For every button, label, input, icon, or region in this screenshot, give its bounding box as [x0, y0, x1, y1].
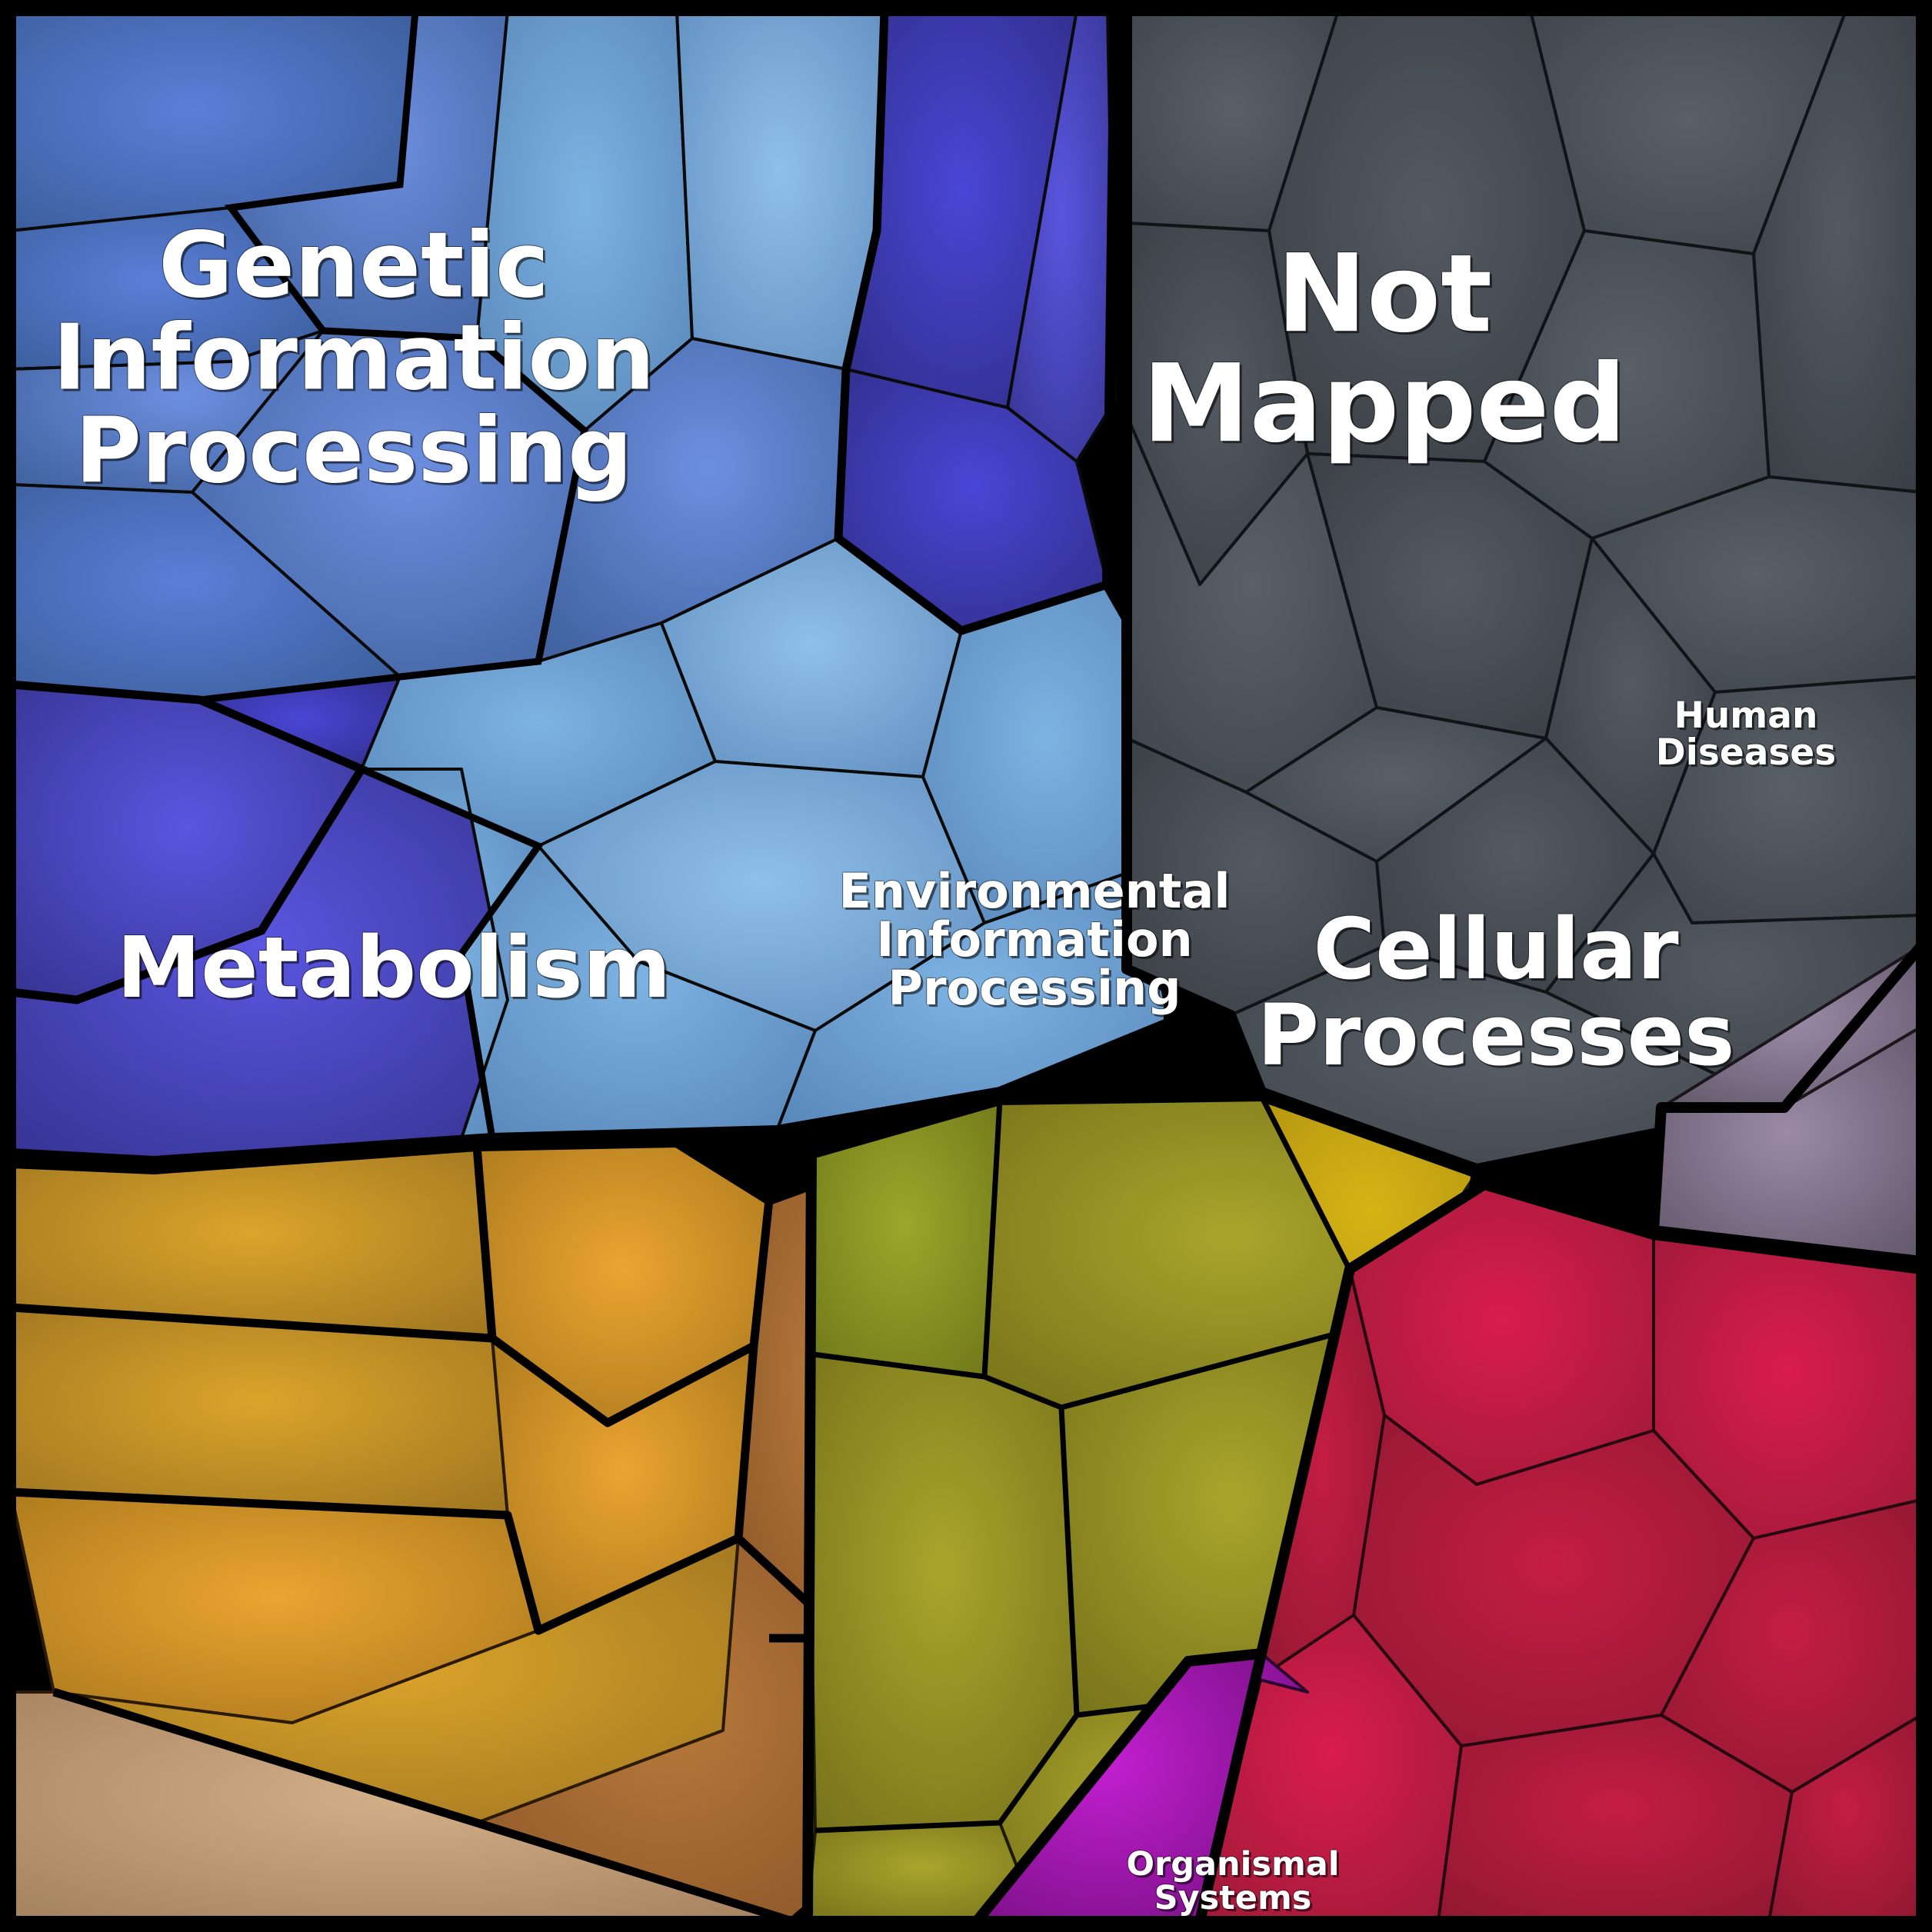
region-not-mapped[interactable] — [1127, 11, 1921, 1169]
voronoi-treemap-canvas — [0, 0, 1932, 1932]
region-genetic-information-processing[interactable] — [11, 11, 1169, 1161]
voronoi-treemap-figure: Genetic Information Processing Not Mappe… — [0, 0, 1932, 1932]
